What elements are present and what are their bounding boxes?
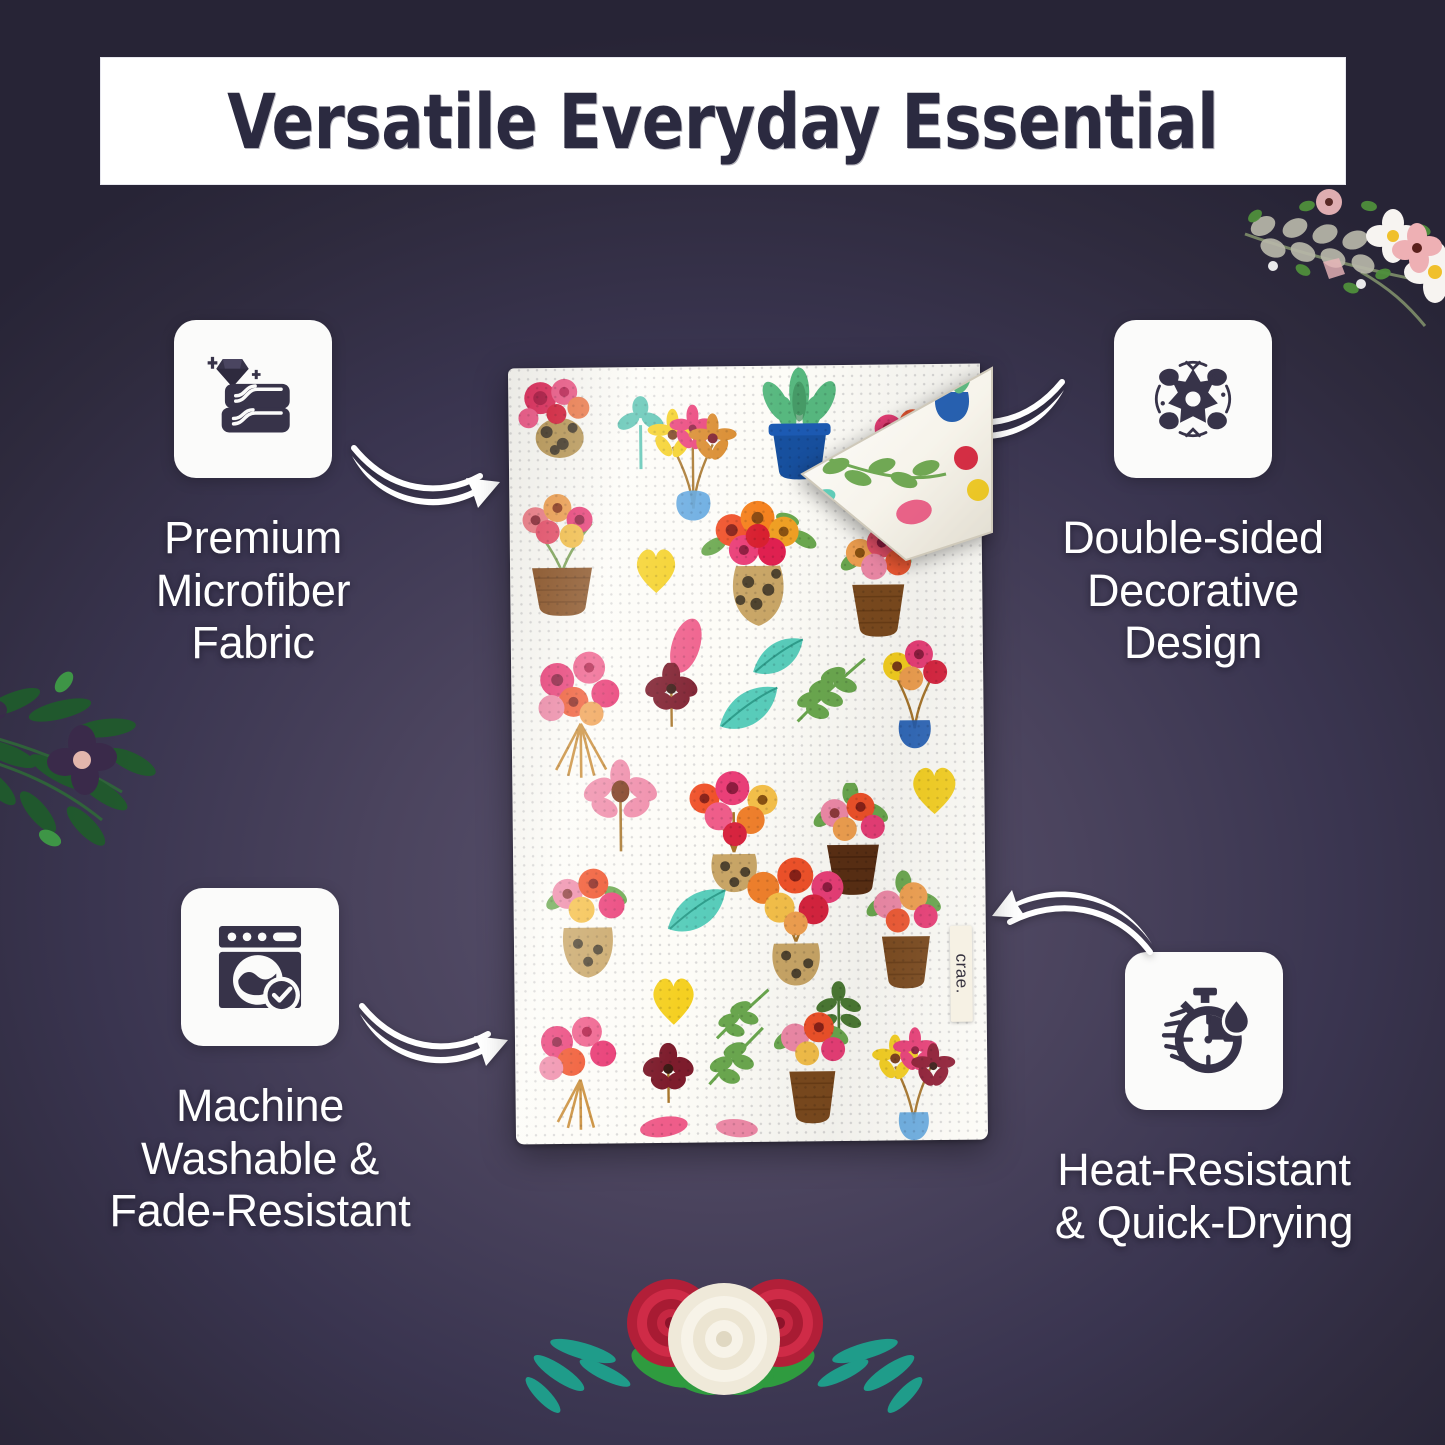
brand-label-text: crae. xyxy=(951,954,971,995)
motif-potted-plant-brown-2 xyxy=(859,870,952,993)
motif-vase-blue-bouquet xyxy=(871,632,958,753)
product-image-floral-kitchen-towel[interactable]: crae. xyxy=(498,356,998,1146)
curved-arrow-bottom-right xyxy=(988,882,1158,960)
motif-basket-flowers xyxy=(513,485,610,616)
icon-card-double-sided xyxy=(1114,320,1272,478)
motif-fern-leaf xyxy=(789,649,872,730)
motif-vase-blue-daisies-2 xyxy=(869,1024,958,1145)
motif-leaf-mint-2 xyxy=(661,878,732,945)
icon-card-heat-resistant xyxy=(1125,952,1283,1110)
feature-double-sided-decorative-design[interactable]: Double-sided Decorative Design xyxy=(1024,320,1362,670)
feature-label-heat-resistant: Heat-Resistant & Quick-Drying xyxy=(1055,1144,1353,1249)
feature-label-double-sided: Double-sided Decorative Design xyxy=(1062,512,1324,670)
feature-heat-resistant-quick-drying[interactable]: Heat-Resistant & Quick-Drying xyxy=(1024,952,1384,1249)
motif-leaf-teal xyxy=(713,678,784,743)
motif-heart-yellow-3 xyxy=(644,966,703,1029)
feature-label-machine-washable: Machine Washable & Fade-Resistant xyxy=(110,1080,411,1238)
icon-card-premium xyxy=(174,320,332,478)
washing-machine-check-icon xyxy=(206,913,314,1021)
diamond-folded-towels-icon xyxy=(199,345,307,453)
fern-sprig-left-decoration xyxy=(0,636,232,866)
feature-label-premium: Premium Microfiber Fabric xyxy=(156,512,351,670)
motif-potted-flowers-mixed xyxy=(539,857,636,984)
motif-bouquet-pink xyxy=(516,374,603,467)
motif-fern-leaf-3 xyxy=(701,1018,772,1093)
motif-flower-purple xyxy=(639,1043,698,1106)
motif-potted-plant-brown-3 xyxy=(767,1005,858,1128)
floral-medallion-icon xyxy=(1139,345,1247,453)
brand-label-tag: crae. xyxy=(950,926,973,1022)
motif-flower-maroon xyxy=(641,662,702,729)
curved-arrow-bottom-left xyxy=(356,996,516,1070)
motif-leaf-small-pink-2 xyxy=(712,1110,762,1145)
rose-cluster-bottom-decoration xyxy=(523,1255,925,1423)
motif-bouquet-orange-large xyxy=(737,855,854,990)
curved-arrow-top-left xyxy=(348,438,508,512)
infographic-canvas: Versatile Everyday Essential xyxy=(0,0,1445,1445)
motif-tied-bouquet-pink-2 xyxy=(533,1011,628,1132)
stopwatch-droplet-icon xyxy=(1150,977,1258,1085)
motif-flower-coneflower xyxy=(578,759,663,856)
page-title: Versatile Everyday Essential xyxy=(227,77,1218,166)
motif-leaf-small-pink xyxy=(636,1107,692,1145)
motif-heart-yellow-2 xyxy=(904,756,965,819)
folded-corner-reverse-side xyxy=(796,362,1002,578)
motif-heart-yellow xyxy=(630,539,683,598)
title-banner: Versatile Everyday Essential xyxy=(100,57,1346,185)
icon-card-machine-washable xyxy=(181,888,339,1046)
